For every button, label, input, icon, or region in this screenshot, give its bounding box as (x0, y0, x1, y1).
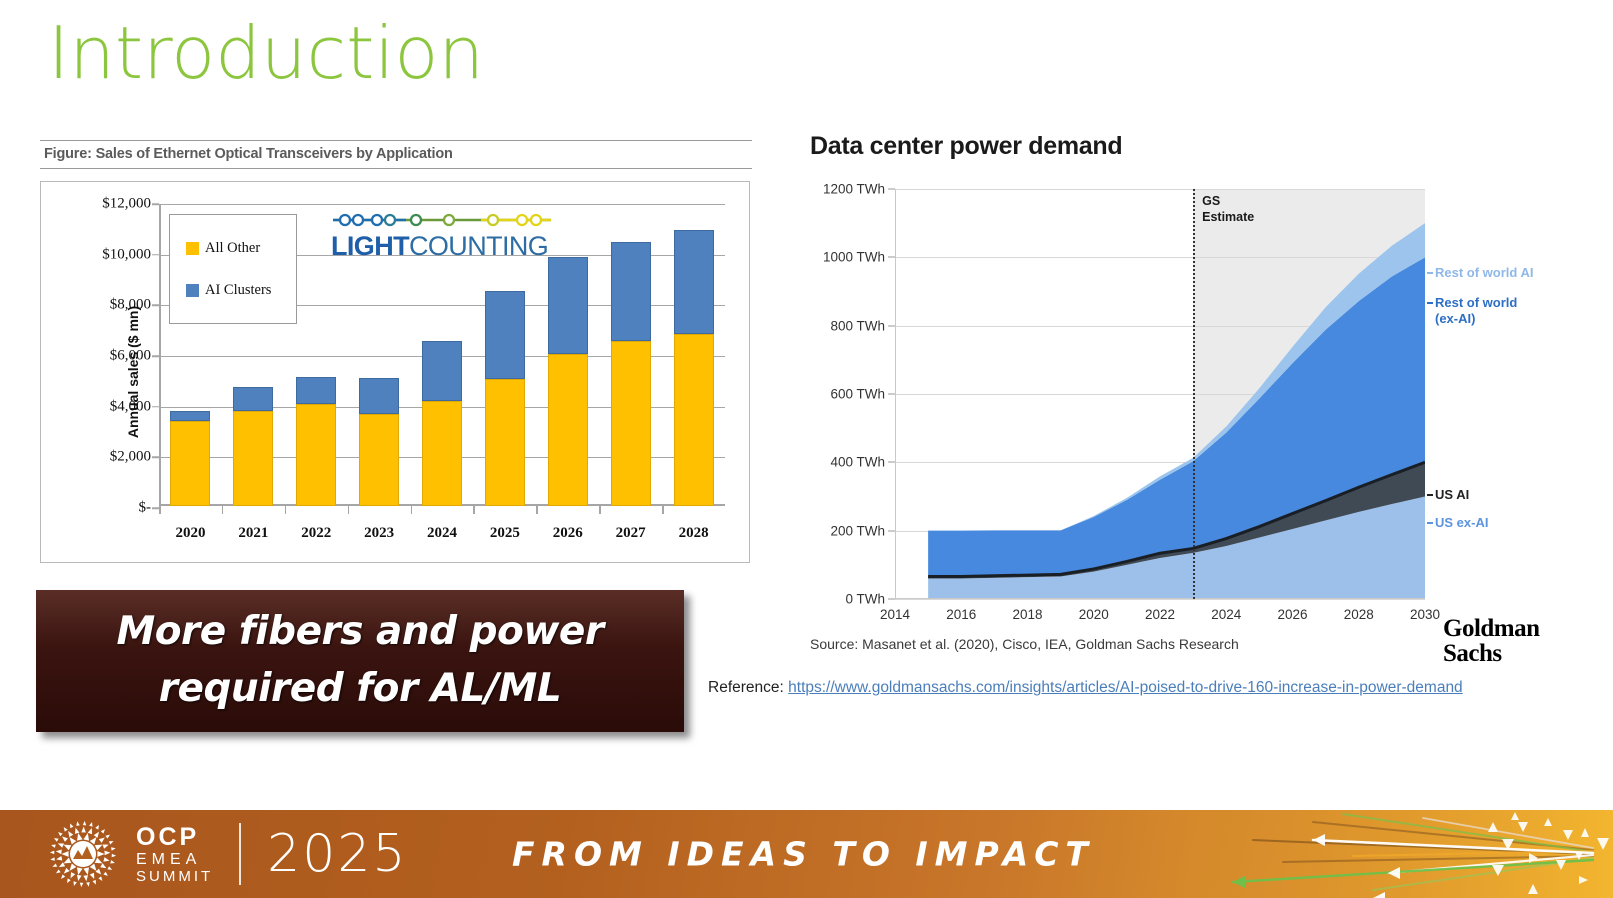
y-tick-mark (888, 257, 895, 258)
x-tick-mark (159, 506, 161, 514)
series-label-us-ai: US AI (1435, 487, 1469, 503)
legend-item-all-other: All Other (186, 240, 296, 257)
bar-segment-all-other (359, 414, 399, 506)
goldman-sachs-logo: Goldman Sachs (1443, 617, 1540, 666)
ocp-wordmark: OCP EMEA SUMMIT (136, 823, 213, 886)
y-axis-tick: $4,000 (110, 398, 151, 415)
bar-segment-ai-clusters (611, 242, 651, 341)
y-axis-tick: 1200 TWh (823, 182, 885, 197)
bar-segment-all-other (170, 421, 210, 506)
transceiver-sales-panel: Figure: Sales of Ethernet Optical Transc… (40, 140, 752, 563)
x-axis-tick: 2020 (1079, 607, 1109, 622)
power-demand-panel: Data center power demand GS Estimate 0 T… (810, 132, 1600, 617)
stacked-bar (359, 378, 399, 506)
legend-swatch-icon (186, 284, 199, 297)
x-tick-mark (411, 506, 413, 514)
legend-swatch-icon (186, 242, 199, 255)
bar-group (662, 204, 725, 506)
y-tick-mark (888, 462, 895, 463)
y-tick-mark (152, 406, 159, 408)
x-axis-labels: 201420162018202020222024202620282030 (895, 607, 1425, 627)
y-axis-label: Annual sales ($ mn) (125, 306, 141, 438)
logo-divider (239, 823, 241, 885)
x-axis-tick: 2027 (599, 525, 662, 542)
bar-segment-ai-clusters (548, 257, 588, 354)
y-tick-mark (152, 355, 159, 357)
y-tick-mark (152, 457, 159, 459)
stacked-bar (233, 387, 273, 506)
reference-label: Reference: (708, 679, 784, 696)
arrow-burst-graphic (1193, 810, 1613, 898)
stacked-bar (485, 291, 525, 506)
legend-label: All Other (205, 240, 260, 257)
bar-segment-ai-clusters (233, 387, 273, 411)
series-label-us-ex-ai: US ex-AI (1435, 515, 1488, 531)
ocp-line-1: OCP (136, 823, 213, 851)
legend-label: AI Clusters (205, 282, 271, 299)
y-axis-tick: $2,000 (110, 449, 151, 466)
x-tick-mark (348, 506, 350, 514)
figure-caption: Figure: Sales of Ethernet Optical Transc… (40, 140, 752, 169)
y-tick-mark (152, 254, 159, 256)
y-axis-tick: 1000 TWh (823, 250, 885, 265)
transceiver-sales-chart: Annual sales ($ mn) $-$2,000$4,000$6,000… (40, 181, 750, 563)
x-tick-mark (536, 506, 538, 514)
x-axis-tick: 2022 (1145, 607, 1175, 622)
y-axis-tick: 800 TWh (830, 318, 885, 333)
legend-item-ai-clusters: AI Clusters (186, 282, 296, 299)
x-axis-tick: 2020 (159, 525, 222, 542)
x-tick-mark (473, 506, 475, 514)
gs-estimate-label: GS Estimate (1202, 194, 1254, 225)
gridline (895, 599, 1425, 600)
bar-segment-ai-clusters (674, 230, 714, 334)
bar-segment-all-other (674, 334, 714, 506)
x-axis-tick: 2022 (285, 525, 348, 542)
y-axis-tick: 400 TWh (830, 455, 885, 470)
chart-source: Source: Masanet et al. (2020), Cisco, IE… (810, 636, 1239, 652)
bar-segment-ai-clusters (170, 411, 210, 422)
stacked-bar (422, 341, 462, 506)
lightcounting-logo: LIGHTCOUNTING (331, 212, 551, 260)
x-axis-tick: 2028 (1344, 607, 1374, 622)
bar-segment-all-other (233, 411, 273, 506)
gs-logo-line-1: Goldman (1443, 617, 1540, 642)
bar-segment-ai-clusters (296, 377, 336, 404)
series-label-rest-of-world-ai: Rest of world AI (1435, 265, 1533, 281)
callout-line-2: required for AL/ML (159, 666, 561, 711)
logo-word-light: LIGHT (331, 231, 409, 261)
ocp-line-2: EMEA (136, 851, 213, 869)
logo-wordmark: LIGHTCOUNTING (331, 233, 551, 260)
callout-box: More fibers and power required for AL/ML (36, 590, 684, 732)
callout-text: More fibers and power required for AL/ML (116, 604, 603, 717)
stacked-bar (296, 377, 336, 506)
series-label-rest-of-world-ex-ai: Rest of world (ex-AI) (1435, 295, 1517, 326)
footer-tagline: FROM IDEAS TO IMPACT (512, 835, 1095, 874)
series-label-tick (1427, 272, 1433, 274)
plot-area: GS Estimate 0 TWh200 TWh400 TWh600 TWh80… (895, 189, 1425, 599)
callout-line-1: More fibers and power (116, 609, 603, 654)
x-axis-tick: 2024 (411, 525, 474, 542)
y-axis-tick: $12,000 (102, 196, 151, 213)
bar-segment-ai-clusters (359, 378, 399, 414)
ocp-line-3: SUMMIT (136, 869, 213, 886)
y-axis-tick: $10,000 (102, 246, 151, 263)
bar-segment-ai-clusters (485, 291, 525, 379)
y-axis-tick: 0 TWh (845, 592, 885, 607)
y-tick-mark (888, 530, 895, 531)
x-axis-tick: 2014 (880, 607, 910, 622)
ocp-sunburst-icon (46, 817, 120, 891)
stacked-bar (674, 230, 714, 506)
x-tick-mark (599, 506, 601, 514)
y-tick-mark (152, 507, 159, 509)
x-axis-tick: 2023 (348, 525, 411, 542)
bar-segment-all-other (548, 354, 588, 506)
logo-dots-icon (331, 212, 553, 228)
y-axis-tick: $6,000 (110, 348, 151, 365)
stacked-bar (548, 257, 588, 506)
bar-segment-ai-clusters (422, 341, 462, 402)
x-axis-tick: 2016 (946, 607, 976, 622)
x-axis-tick: 2018 (1012, 607, 1042, 622)
x-axis-tick: 2026 (1277, 607, 1307, 622)
x-axis-labels: 202020212022202320242025202620272028 (159, 525, 725, 542)
bar-segment-all-other (611, 341, 651, 506)
logo-word-counting: COUNTING (409, 231, 548, 261)
stacked-bar (611, 242, 651, 506)
y-axis-tick: $- (139, 500, 152, 517)
x-axis-tick: 2024 (1211, 607, 1241, 622)
series-label-tick (1427, 522, 1433, 524)
chart-legend: All Other AI Clusters (169, 214, 297, 324)
y-axis-tick: 200 TWh (830, 523, 885, 538)
bar-segment-all-other (485, 379, 525, 506)
estimate-divider-line (1193, 189, 1195, 599)
bar-group (599, 204, 662, 506)
x-axis-tick: 2028 (662, 525, 725, 542)
chart-title: Data center power demand (810, 132, 1600, 161)
y-tick-mark (888, 325, 895, 326)
y-tick-mark (888, 394, 895, 395)
x-tick-mark (662, 506, 664, 514)
ocp-summit-logo: OCP EMEA SUMMIT 2025 (46, 817, 408, 891)
reference-link[interactable]: https://www.goldmansachs.com/insights/ar… (788, 679, 1463, 696)
x-tick-mark (222, 506, 224, 514)
y-axis-tick: 600 TWh (830, 387, 885, 402)
y-tick-mark (888, 189, 895, 190)
x-axis-line (895, 598, 1425, 599)
gs-logo-line-2: Sachs (1443, 642, 1540, 667)
x-axis-tick: 2025 (473, 525, 536, 542)
x-axis-tick: 2030 (1410, 607, 1440, 622)
x-axis-tick: 2026 (536, 525, 599, 542)
y-axis-line (895, 189, 896, 599)
stacked-bar (170, 411, 210, 506)
y-tick-mark (888, 599, 895, 600)
y-axis-tick: $8,000 (110, 297, 151, 314)
footer-banner: OCP EMEA SUMMIT 2025 FROM IDEAS TO IMPAC… (0, 810, 1613, 898)
x-tick-mark (285, 506, 287, 514)
series-label-tick (1427, 302, 1433, 304)
page-title: Introduction (48, 16, 484, 92)
reference: Reference: https://www.goldmansachs.com/… (708, 679, 1463, 697)
area-series (895, 189, 1425, 599)
bar-segment-all-other (422, 401, 462, 506)
power-demand-chart: GS Estimate 0 TWh200 TWh400 TWh600 TWh80… (810, 177, 1600, 617)
summit-year: 2025 (267, 824, 407, 884)
series-label-tick (1427, 494, 1433, 496)
y-tick-mark (152, 203, 159, 205)
slide: Introduction Figure: Sales of Ethernet O… (0, 0, 1613, 898)
y-tick-mark (152, 305, 159, 307)
bar-segment-all-other (296, 404, 336, 506)
x-axis-tick: 2021 (222, 525, 285, 542)
